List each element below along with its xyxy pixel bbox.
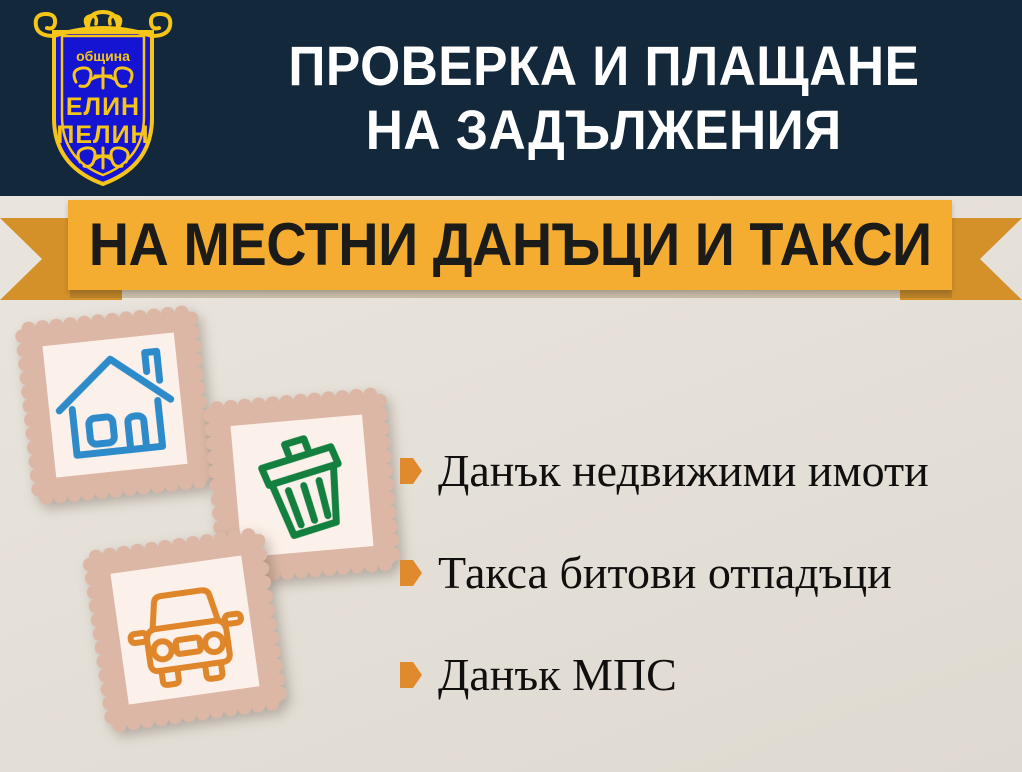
crest-name-line2: ПЕЛИН [56, 121, 149, 149]
crest-name-line1: ЕЛИН [66, 93, 140, 121]
services-list: Данък недвижими имоти Такса битови отпад… [400, 420, 1010, 726]
arrow-bullet-icon [400, 560, 422, 586]
crest-line-top: община [76, 48, 130, 64]
poster-canvas: община ЕЛИН ПЕЛИН [0, 0, 1022, 772]
stamp-card-car [80, 525, 290, 735]
header-banner: община ЕЛИН ПЕЛИН [0, 0, 1022, 196]
arrow-bullet-icon [400, 662, 422, 688]
subtitle-ribbon: НА МЕСТНИ ДАНЪЦИ И ТАКСИ [0, 196, 1022, 314]
page-title: ПРОВЕРКА И ПЛАЩАНЕ НА ЗАДЪЛЖЕНИЯ [186, 0, 1022, 196]
list-item[interactable]: Данък МПС [400, 624, 1010, 726]
stamp-card-house [13, 303, 217, 507]
list-item[interactable]: Такса битови отпадъци [400, 522, 1010, 624]
list-item-label: Данък недвижими имоти [438, 446, 929, 496]
list-item[interactable]: Данък недвижими имоти [400, 420, 1010, 522]
list-item-label: Данък МПС [438, 650, 677, 700]
ribbon-body: НА МЕСТНИ ДАНЪЦИ И ТАКСИ [68, 200, 952, 290]
arrow-bullet-icon [400, 458, 422, 484]
coat-of-arms-shield-icon: община ЕЛИН ПЕЛИН [28, 6, 178, 191]
ribbon-label: НА МЕСТНИ ДАНЪЦИ И ТАКСИ [89, 215, 932, 275]
title-line-2: НА ЗАДЪЛЖЕНИЯ [366, 99, 842, 161]
title-line-1: ПРОВЕРКА И ПЛАЩАНЕ [289, 35, 920, 97]
list-item-label: Такса битови отпадъци [438, 548, 892, 598]
